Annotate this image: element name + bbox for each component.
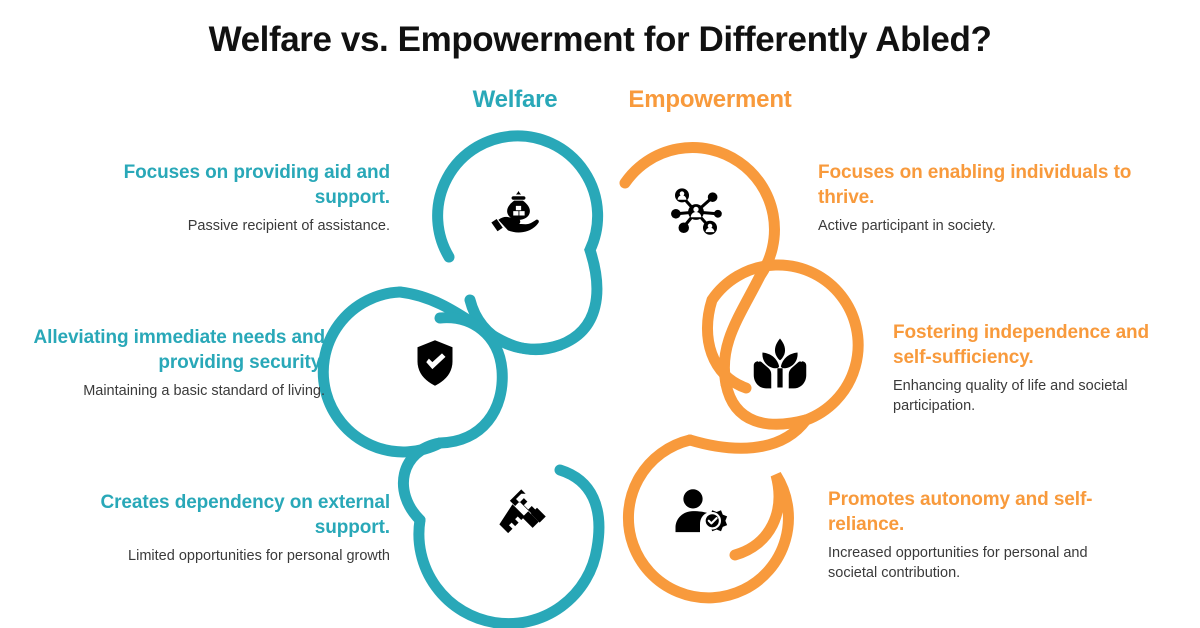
welfare-item-3: Creates dependency on external support. … xyxy=(75,490,390,566)
hand-holding-money-bag-icon xyxy=(487,184,543,240)
people-network-icon xyxy=(668,184,724,240)
welfare-item-2-subtext: Maintaining a basic standard of living. xyxy=(25,381,325,401)
empowerment-item-1-heading: Focuses on enabling individuals to thriv… xyxy=(818,160,1138,210)
person-verified-badge-icon xyxy=(672,484,728,540)
empowerment-item-2: Fostering independence and self-sufficie… xyxy=(893,320,1163,416)
empowerment-item-3-heading: Promotes autonomy and self-reliance. xyxy=(828,487,1138,537)
welfare-item-3-heading: Creates dependency on external support. xyxy=(75,490,390,540)
empowerment-item-3: Promotes autonomy and self-reliance. Inc… xyxy=(828,487,1138,583)
welfare-item-1: Focuses on providing aid and support. Pa… xyxy=(105,160,390,236)
empowerment-item-2-subtext: Enhancing quality of life and societal p… xyxy=(893,376,1163,416)
handshake-icon xyxy=(495,485,551,541)
welfare-item-3-subtext: Limited opportunities for personal growt… xyxy=(75,546,390,566)
welfare-item-2-heading: Alleviating immediate needs and providin… xyxy=(25,325,325,375)
welfare-item-1-heading: Focuses on providing aid and support. xyxy=(105,160,390,210)
welfare-item-1-subtext: Passive recipient of assistance. xyxy=(105,216,390,236)
welfare-item-2: Alleviating immediate needs and providin… xyxy=(25,325,325,401)
welfare-connector-2-3 xyxy=(403,443,440,520)
empowerment-item-1-subtext: Active participant in society. xyxy=(818,216,1138,236)
empowerment-item-1: Focuses on enabling individuals to thriv… xyxy=(818,160,1138,236)
empowerment-item-2-heading: Fostering independence and self-sufficie… xyxy=(893,320,1163,370)
empowerment-item-3-subtext: Increased opportunities for personal and… xyxy=(828,543,1138,583)
shield-check-icon xyxy=(407,335,463,391)
hands-holding-plant-icon xyxy=(752,335,808,391)
